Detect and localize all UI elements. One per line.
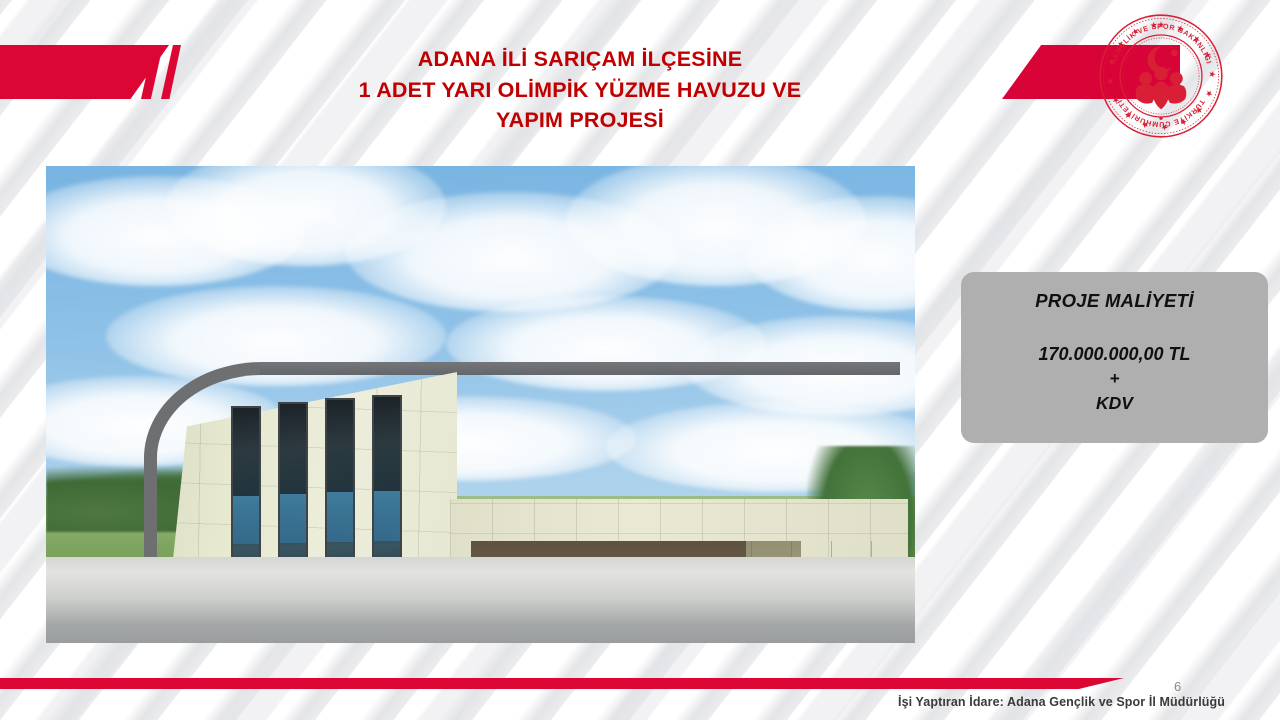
title-line-2: 1 ADET YARI OLİMPİK YÜZME HAVUZU VE: [230, 75, 930, 106]
footer-administration-text: İşi Yaptıran İdare: Adana Gençlik ve Spo…: [898, 695, 1225, 709]
cost-box-plus: +: [1110, 369, 1120, 389]
ministry-seal-icon: GENÇLİK VE SPOR BAKANLIĞI TÜRKİYE CUMHUR…: [1097, 12, 1225, 140]
title-line-1: ADANA İLİ SARIÇAM İLÇESİNE: [230, 44, 930, 75]
footer-red-bar: [0, 678, 1124, 689]
render-road: [46, 557, 915, 643]
page-title: ADANA İLİ SARIÇAM İLÇESİNE 1 ADET YARI O…: [230, 44, 930, 136]
page-number: 6: [1174, 679, 1181, 694]
title-line-3: YAPIM PROJESİ: [230, 105, 930, 136]
project-cost-box: PROJE MALİYETİ 170.000.000,00 TL + KDV: [961, 272, 1268, 443]
building-render-image: [46, 166, 915, 643]
render-roof-fascia: [260, 362, 900, 375]
header-left-red-stripe-2: [161, 45, 181, 99]
cost-box-amount: 170.000.000,00 TL: [1038, 344, 1190, 365]
cost-box-title: PROJE MALİYETİ: [1035, 290, 1193, 312]
cost-box-tax: KDV: [1096, 393, 1133, 414]
slide-canvas: ADANA İLİ SARIÇAM İLÇESİNE 1 ADET YARI O…: [0, 0, 1280, 720]
svg-text:GENÇLİK VE SPOR BAKANLIĞI: GENÇLİK VE SPOR BAKANLIĞI: [1109, 23, 1213, 66]
